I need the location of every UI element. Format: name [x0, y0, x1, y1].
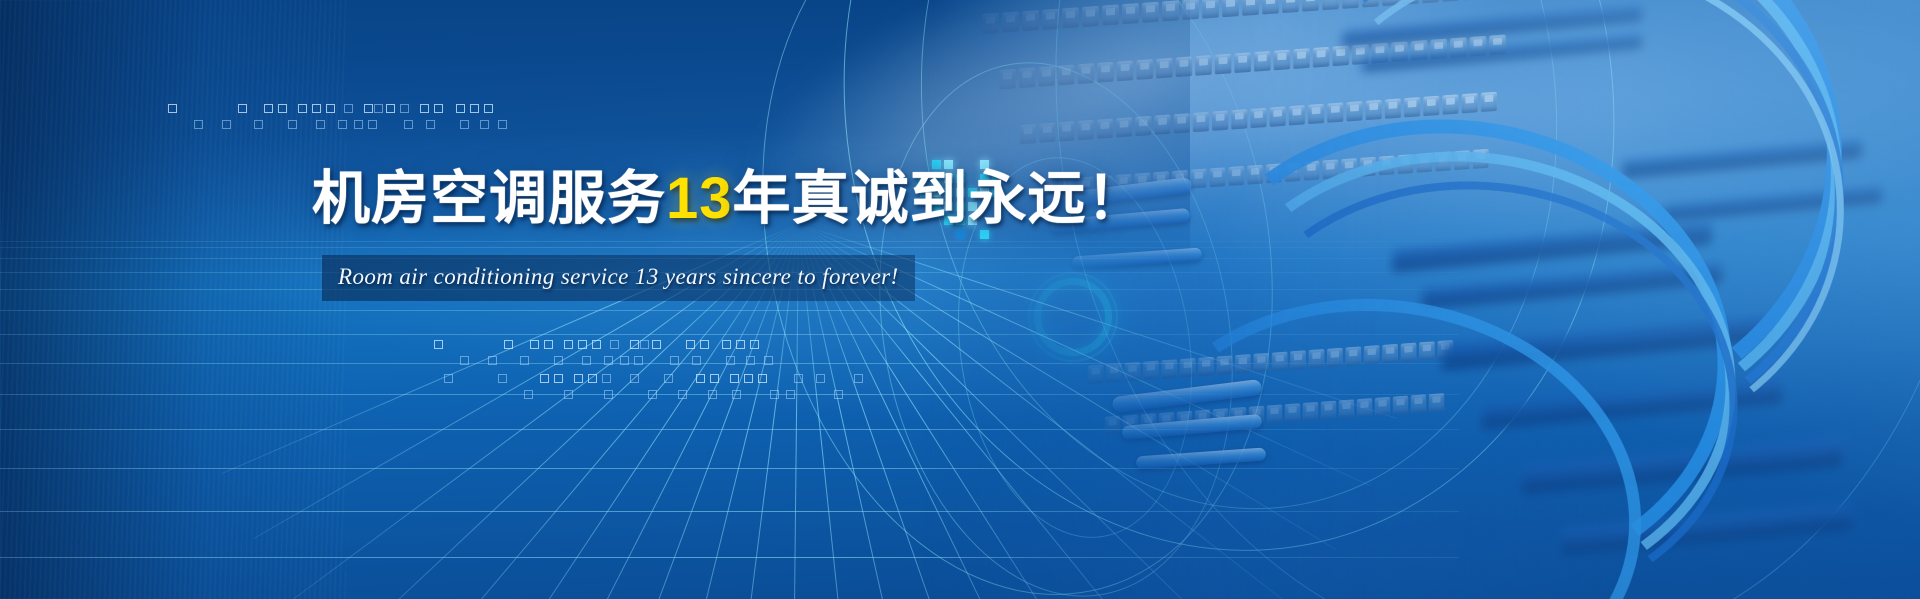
decor-square	[732, 390, 741, 399]
decor-square	[708, 390, 717, 399]
decor-square	[604, 390, 613, 399]
decor-square	[480, 120, 489, 129]
decor-square	[730, 374, 739, 383]
decor-square	[700, 340, 709, 349]
decor-square	[364, 104, 373, 113]
decor-square	[678, 390, 687, 399]
decor-square	[400, 104, 409, 113]
decor-square	[564, 390, 573, 399]
decor-square	[744, 374, 753, 383]
decor-square	[470, 104, 479, 113]
decor-square	[620, 356, 629, 365]
decor-square	[574, 374, 583, 383]
decor-square	[288, 120, 297, 129]
decor-square	[786, 390, 795, 399]
decor-square	[326, 104, 335, 113]
decor-square	[434, 104, 443, 113]
photo-cool-overlay	[922, 0, 1920, 599]
decor-square	[222, 120, 231, 129]
datacenter-photo	[922, 0, 1920, 599]
decor-square	[338, 120, 347, 129]
decor-square	[312, 104, 321, 113]
headline-suffix: 年真诚到永远！	[733, 166, 1146, 231]
decor-square	[670, 356, 679, 365]
decor-square	[540, 374, 549, 383]
mosaic-pixel	[956, 230, 965, 239]
decor-square	[354, 120, 363, 129]
decor-square	[578, 340, 587, 349]
decor-square	[758, 374, 767, 383]
banner-subtitle: Room air conditioning service 13 years s…	[338, 264, 899, 289]
decor-square	[504, 340, 513, 349]
decor-square	[544, 340, 553, 349]
decor-square	[460, 120, 469, 129]
decor-square	[604, 356, 613, 365]
decor-square	[764, 356, 773, 365]
decor-square	[460, 356, 469, 365]
decor-square	[652, 340, 661, 349]
headline-prefix: 机房空调服务	[312, 166, 666, 231]
headline-years-number: 13	[666, 166, 733, 231]
decor-square	[610, 340, 619, 349]
decor-square	[770, 390, 779, 399]
decor-square	[278, 104, 287, 113]
decor-square	[404, 120, 413, 129]
decor-square	[554, 374, 563, 383]
decor-square	[602, 374, 611, 383]
decor-square	[344, 104, 353, 113]
decor-square	[368, 120, 377, 129]
decor-square	[692, 356, 701, 365]
decor-square	[648, 390, 657, 399]
decor-square	[588, 374, 597, 383]
decor-square	[168, 104, 177, 113]
decor-square	[426, 120, 435, 129]
decor-square	[592, 340, 601, 349]
decor-square	[498, 120, 507, 129]
decor-square	[816, 374, 825, 383]
decor-square	[582, 356, 591, 365]
decor-square	[630, 340, 639, 349]
decor-square	[726, 356, 735, 365]
decor-square	[736, 340, 745, 349]
decor-square	[834, 390, 843, 399]
decor-square	[254, 120, 263, 129]
decor-square	[854, 374, 863, 383]
decor-square	[686, 340, 695, 349]
decor-square	[722, 340, 731, 349]
decor-square	[264, 104, 273, 113]
decor-square	[554, 356, 563, 365]
decor-square	[386, 104, 395, 113]
decor-square	[484, 104, 493, 113]
decor-square	[640, 340, 649, 349]
decor-square	[520, 356, 529, 365]
hero-banner: 机房空调服务13年真诚到永远！ Room air conditioning se…	[0, 0, 1920, 599]
decor-square	[456, 104, 465, 113]
decor-square	[444, 374, 453, 383]
decor-square	[750, 340, 759, 349]
decor-square	[374, 104, 383, 113]
decor-square	[664, 374, 673, 383]
decor-square	[316, 120, 325, 129]
banner-headline: 机房空调服务13年真诚到永远！	[312, 170, 1146, 228]
decor-square	[434, 340, 443, 349]
decor-square	[530, 340, 539, 349]
decor-square	[298, 104, 307, 113]
decor-square	[696, 374, 705, 383]
decor-square	[194, 120, 203, 129]
decor-square	[238, 104, 247, 113]
mosaic-pixel	[980, 230, 989, 239]
decor-square	[420, 104, 429, 113]
decor-square	[498, 374, 507, 383]
decor-square	[524, 390, 533, 399]
banner-subtitle-band: Room air conditioning service 13 years s…	[322, 255, 915, 301]
decor-square	[794, 374, 803, 383]
decor-square	[564, 340, 573, 349]
decor-square	[746, 356, 755, 365]
decor-square	[710, 374, 719, 383]
decor-square	[634, 356, 643, 365]
decor-square	[488, 356, 497, 365]
decor-square	[630, 374, 639, 383]
